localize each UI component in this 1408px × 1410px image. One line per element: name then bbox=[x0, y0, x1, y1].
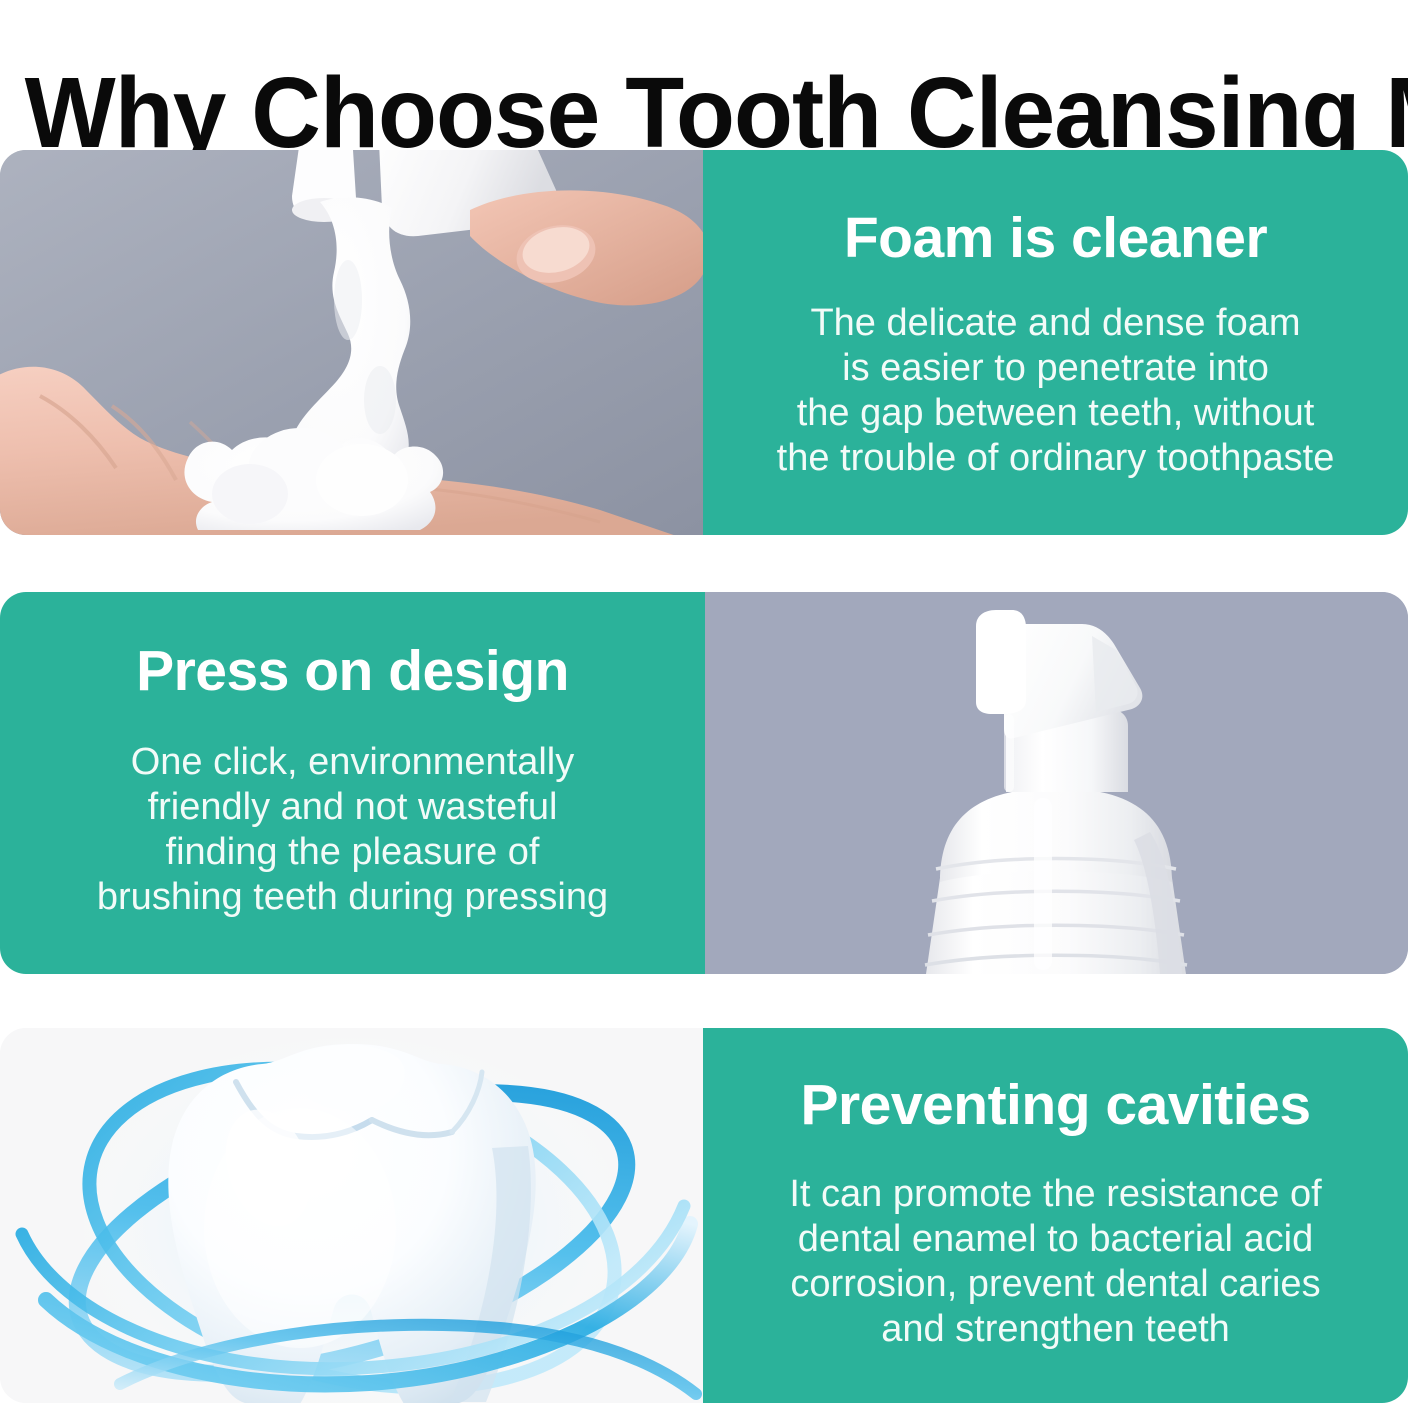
feature-row-preventing-cavities: Preventing cavities It can promote the r… bbox=[0, 1028, 1408, 1403]
panel-body: One click, environmentally friendly and … bbox=[97, 740, 608, 920]
panel-body: The delicate and dense foam is easier to… bbox=[777, 301, 1335, 481]
panel-text-foam-is-cleaner: Foam is cleaner The delicate and dense f… bbox=[703, 150, 1408, 535]
foam-pump-bottle-photo bbox=[705, 592, 1408, 974]
panel-heading: Press on design bbox=[136, 640, 569, 702]
feature-row-foam-is-cleaner: Foam is cleaner The delicate and dense f… bbox=[0, 150, 1408, 535]
foam-hand-illustration bbox=[0, 150, 703, 535]
tooth-with-blue-orbit-illustration bbox=[0, 1028, 703, 1403]
panel-text-press-on-design: Press on design One click, environmental… bbox=[0, 592, 705, 974]
pump-bottle-illustration bbox=[705, 592, 1408, 974]
tooth-illustration bbox=[0, 1028, 703, 1403]
panel-body: It can promote the resistance of dental … bbox=[789, 1172, 1321, 1352]
panel-heading: Foam is cleaner bbox=[844, 207, 1267, 269]
infographic-page: Why Choose Tooth Cleansing Mousse bbox=[0, 0, 1408, 1410]
foam-dispensed-into-hand-photo bbox=[0, 150, 703, 535]
panel-text-preventing-cavities: Preventing cavities It can promote the r… bbox=[703, 1028, 1408, 1403]
panel-heading: Preventing cavities bbox=[800, 1074, 1310, 1136]
feature-row-press-on-design: Press on design One click, environmental… bbox=[0, 592, 1408, 974]
